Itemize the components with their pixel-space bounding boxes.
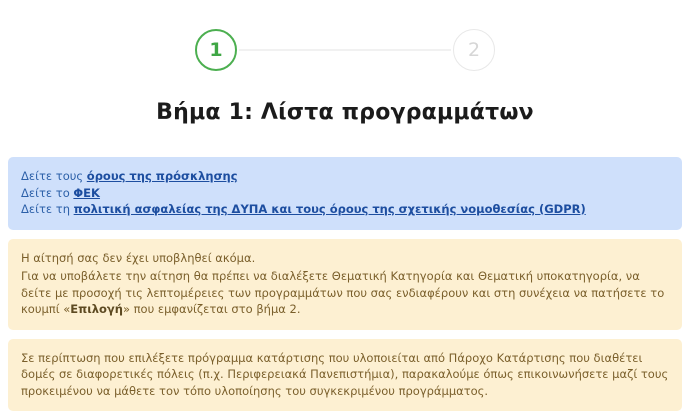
link-terms-of-call[interactable]: όρους της πρόσκλησης bbox=[87, 169, 238, 183]
application-page: 1 2 Βήμα 1: Λίστα προγραμμάτων Δείτε του… bbox=[0, 0, 690, 416]
warning-line-not-submitted: Η αίτησή σας δεν έχει υποβληθεί ακόμα. bbox=[21, 250, 669, 267]
warning-instructions-part-2: » που εμφανίζεται στο βήμα 2. bbox=[123, 302, 301, 316]
warning-box-provider-locations: Σε περίπτωση που επιλέξετε πρόγραμμα κατ… bbox=[8, 339, 682, 412]
stepper-step-2[interactable]: 2 bbox=[453, 29, 495, 71]
link-fek[interactable]: ΦΕΚ bbox=[73, 186, 100, 200]
stepper-connector-line bbox=[239, 50, 451, 51]
info-line-1-prefix: Δείτε τους bbox=[21, 169, 87, 183]
stepper-step-1[interactable]: 1 bbox=[195, 29, 237, 71]
link-privacy-policy-gdpr[interactable]: πολιτική ασφαλείας της ΔΥΠΑ και τους όρο… bbox=[74, 202, 586, 216]
info-links-box: Δείτε τους όρους της πρόσκλησης Δείτε το… bbox=[8, 157, 682, 230]
info-line-3: Δείτε τη πολιτική ασφαλείας της ΔΥΠΑ και… bbox=[21, 201, 669, 218]
alerts-region: Δείτε τους όρους της πρόσκλησης Δείτε το… bbox=[0, 125, 690, 411]
warning-line-instructions: Για να υποβάλετε την αίτηση θα πρέπει να… bbox=[21, 268, 669, 318]
wizard-stepper: 1 2 bbox=[0, 0, 690, 86]
warning-instructions-emphasis: Επιλογή bbox=[70, 302, 123, 316]
info-line-3-prefix: Δείτε τη bbox=[21, 202, 74, 216]
info-line-2-prefix: Δείτε το bbox=[21, 186, 73, 200]
warning-box-submission: Η αίτησή σας δεν έχει υποβληθεί ακόμα. Γ… bbox=[8, 239, 682, 330]
info-line-2: Δείτε το ΦΕΚ bbox=[21, 185, 669, 202]
stepper-track: 1 2 bbox=[195, 29, 495, 71]
warning-provider-text: Σε περίπτωση που επιλέξετε πρόγραμμα κατ… bbox=[21, 350, 669, 400]
page-title: Βήμα 1: Λίστα προγραμμάτων bbox=[0, 86, 690, 125]
info-line-1: Δείτε τους όρους της πρόσκλησης bbox=[21, 168, 669, 185]
